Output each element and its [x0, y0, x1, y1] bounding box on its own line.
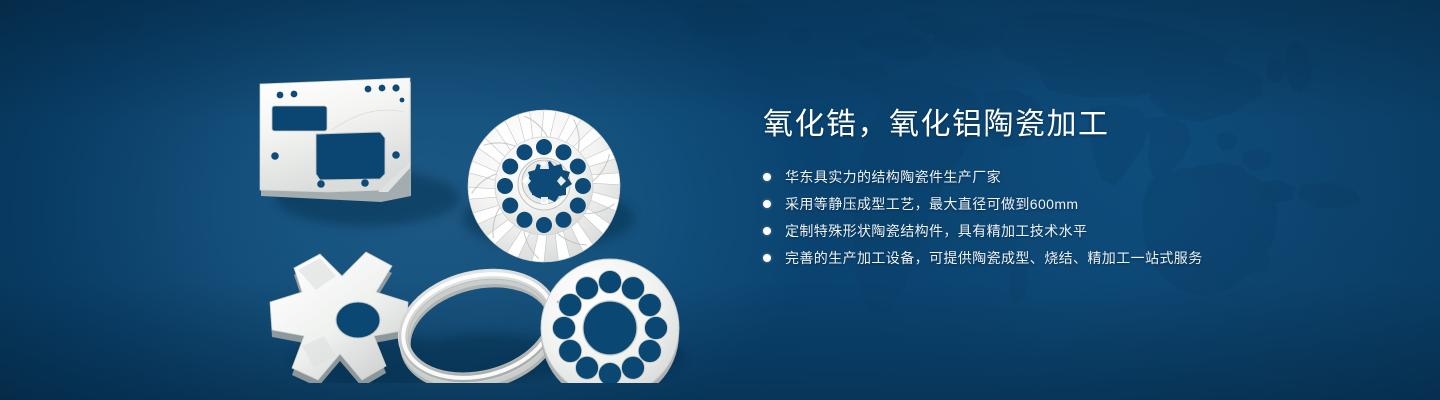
list-item: 完善的生产加工设备，可提供陶瓷成型、烧结、精加工一站式服务	[763, 249, 1383, 267]
ceramic-mounting-plate-shape	[260, 78, 411, 202]
list-item: 采用等静压成型工艺，最大直径可做到600mm	[763, 195, 1383, 213]
bullet-dot-icon	[763, 173, 771, 181]
background-bottom-shade	[0, 280, 1440, 400]
list-item: 定制特殊形状陶瓷结构件，具有精加工技术水平	[763, 222, 1383, 240]
hero-banner: 氧化锆，氧化铝陶瓷加工 华东具实力的结构陶瓷件生产厂家 采用等静压成型工艺，最大…	[0, 0, 1440, 400]
list-item-label: 定制特殊形状陶瓷结构件，具有精加工技术水平	[785, 222, 1087, 240]
ceramic-products-image	[228, 38, 698, 383]
list-item-label: 采用等静压成型工艺，最大直径可做到600mm	[785, 195, 1078, 213]
background-top-shade	[0, 0, 1440, 120]
bullet-dot-icon	[763, 227, 771, 235]
list-item-label: 完善的生产加工设备，可提供陶瓷成型、烧结、精加工一站式服务	[785, 249, 1203, 267]
list-item-label: 华东具实力的结构陶瓷件生产厂家	[785, 168, 1001, 186]
ceramic-impeller-shape	[467, 110, 621, 262]
bullet-dot-icon	[763, 254, 771, 262]
ceramic-perforated-disc-shape	[541, 259, 679, 383]
list-item: 华东具实力的结构陶瓷件生产厂家	[763, 168, 1383, 186]
bullet-dot-icon	[763, 200, 771, 208]
banner-copy: 氧化锆，氧化铝陶瓷加工 华东具实力的结构陶瓷件生产厂家 采用等静压成型工艺，最大…	[763, 106, 1383, 276]
page-title: 氧化锆，氧化铝陶瓷加工	[763, 106, 1383, 144]
feature-list: 华东具实力的结构陶瓷件生产厂家 采用等静压成型工艺，最大直径可做到600mm 定…	[763, 168, 1383, 267]
